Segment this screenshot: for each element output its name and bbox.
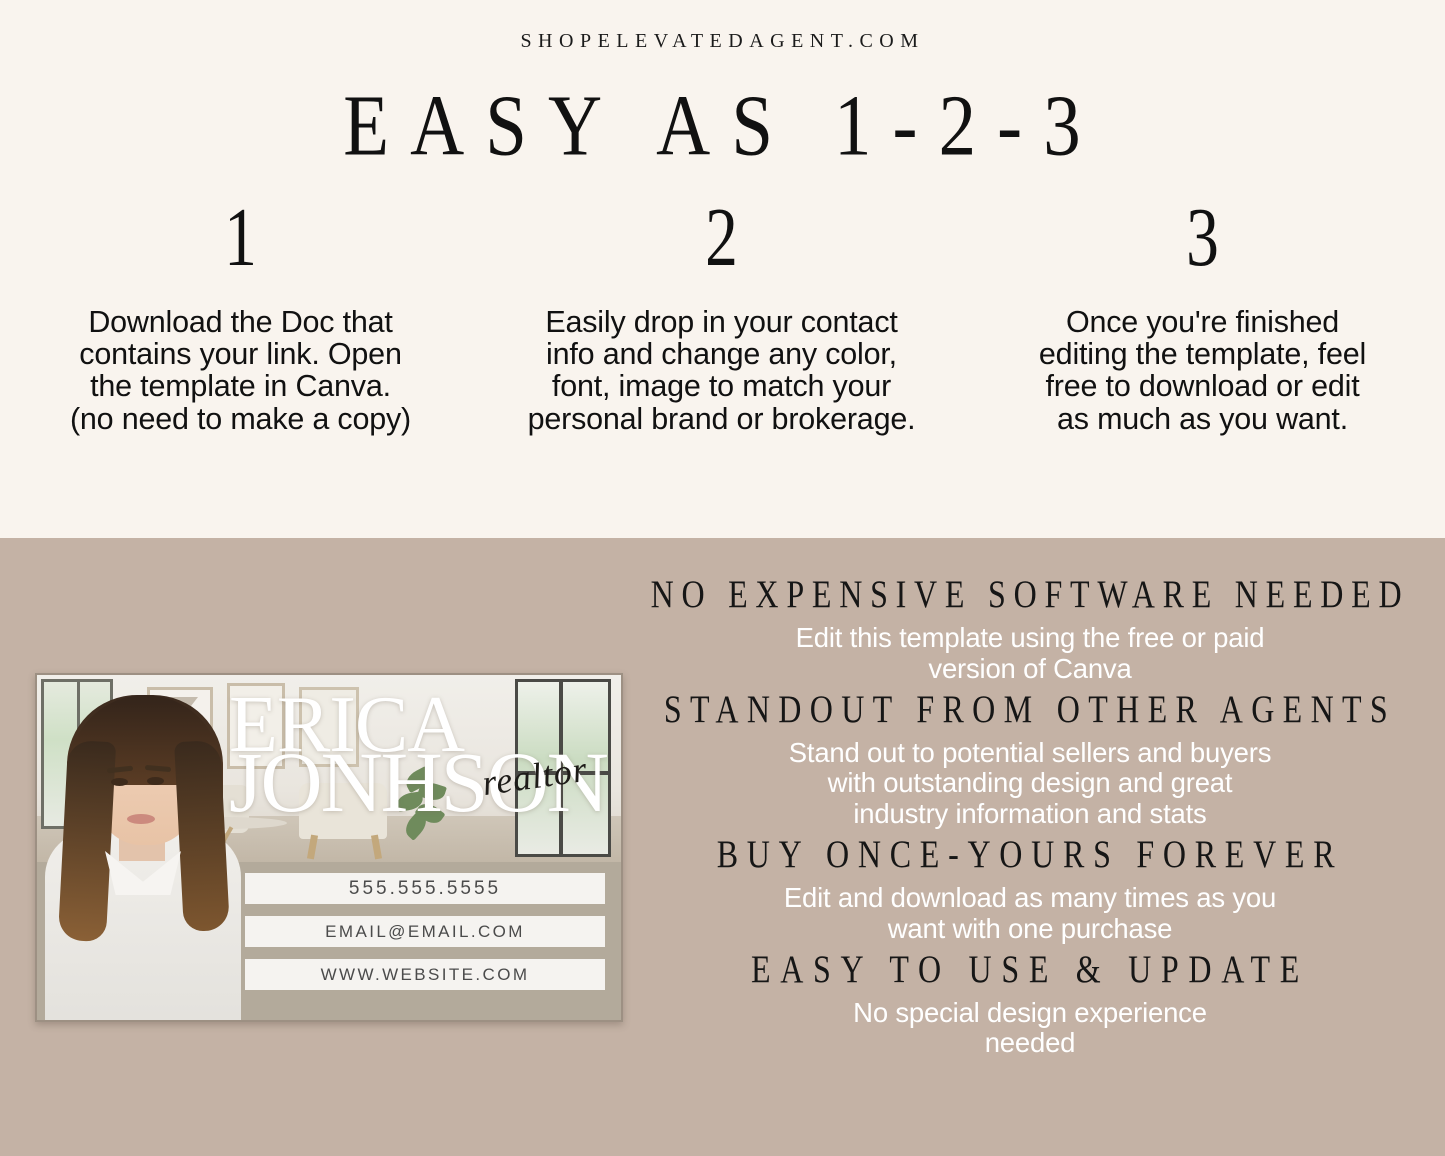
page-title: EASY AS 1-2-3 <box>29 75 1416 176</box>
card-phone: 555.555.5555 <box>245 873 605 904</box>
feature-body: Edit and download as many times as you w… <box>620 881 1440 945</box>
step-description: Once you're finished editing the templat… <box>962 306 1443 435</box>
feature-title: EASY TO USE & UPDATE <box>632 949 1427 1000</box>
feature-item: BUY ONCE-YOURS FOREVER Edit and download… <box>620 838 1440 945</box>
eye-right <box>147 777 164 785</box>
step-number: 1 <box>53 198 428 278</box>
feature-title: BUY ONCE-YOURS FOREVER <box>632 834 1427 885</box>
step-item: 2 Easily drop in your contact info and c… <box>481 198 962 435</box>
card-website: WWW.WEBSITE.COM <box>245 959 605 990</box>
feature-body: Edit this template using the free or pai… <box>620 621 1440 685</box>
bottom-section: ERICA JONHSON realtor 555.555.5555 EMAIL… <box>0 538 1445 1156</box>
card-name-lockup: ERICA JONHSON realtor <box>229 693 621 853</box>
feature-title: STANDOUT FROM OTHER AGENTS <box>632 689 1427 740</box>
hair-side-right <box>174 740 230 932</box>
top-section: SHOPELEVATEDAGENT.COM EASY AS 1-2-3 1 Do… <box>0 0 1445 538</box>
card-contact-bars: 555.555.5555 EMAIL@EMAIL.COM WWW.WEBSITE… <box>245 873 605 1002</box>
step-item: 3 Once you're finished editing the templ… <box>962 198 1443 435</box>
site-url: SHOPELEVATEDAGENT.COM <box>0 30 1445 53</box>
eye-left <box>111 778 128 786</box>
step-description: Easily drop in your contact info and cha… <box>481 306 962 435</box>
feature-body: Stand out to potential sellers and buyer… <box>620 736 1440 830</box>
step-number: 3 <box>1015 198 1390 278</box>
feature-item: STANDOUT FROM OTHER AGENTS Stand out to … <box>620 693 1440 830</box>
feature-title: NO EXPENSIVE SOFTWARE NEEDED <box>632 574 1427 625</box>
card-email: EMAIL@EMAIL.COM <box>245 916 605 947</box>
feature-body: No special design experience needed <box>620 996 1440 1060</box>
business-card-preview: ERICA JONHSON realtor 555.555.5555 EMAIL… <box>35 673 623 1022</box>
features-list: NO EXPENSIVE SOFTWARE NEEDED Edit this t… <box>620 578 1440 1063</box>
feature-item: EASY TO USE & UPDATE No special design e… <box>620 953 1440 1060</box>
lips <box>127 814 155 824</box>
feature-item: NO EXPENSIVE SOFTWARE NEEDED Edit this t… <box>620 578 1440 685</box>
step-item: 1 Download the Doc that contains your li… <box>0 198 481 435</box>
agent-portrait-photo <box>39 681 247 1022</box>
steps-row: 1 Download the Doc that contains your li… <box>0 198 1445 435</box>
step-description: Download the Doc that contains your link… <box>0 306 481 435</box>
step-number: 2 <box>534 198 909 278</box>
